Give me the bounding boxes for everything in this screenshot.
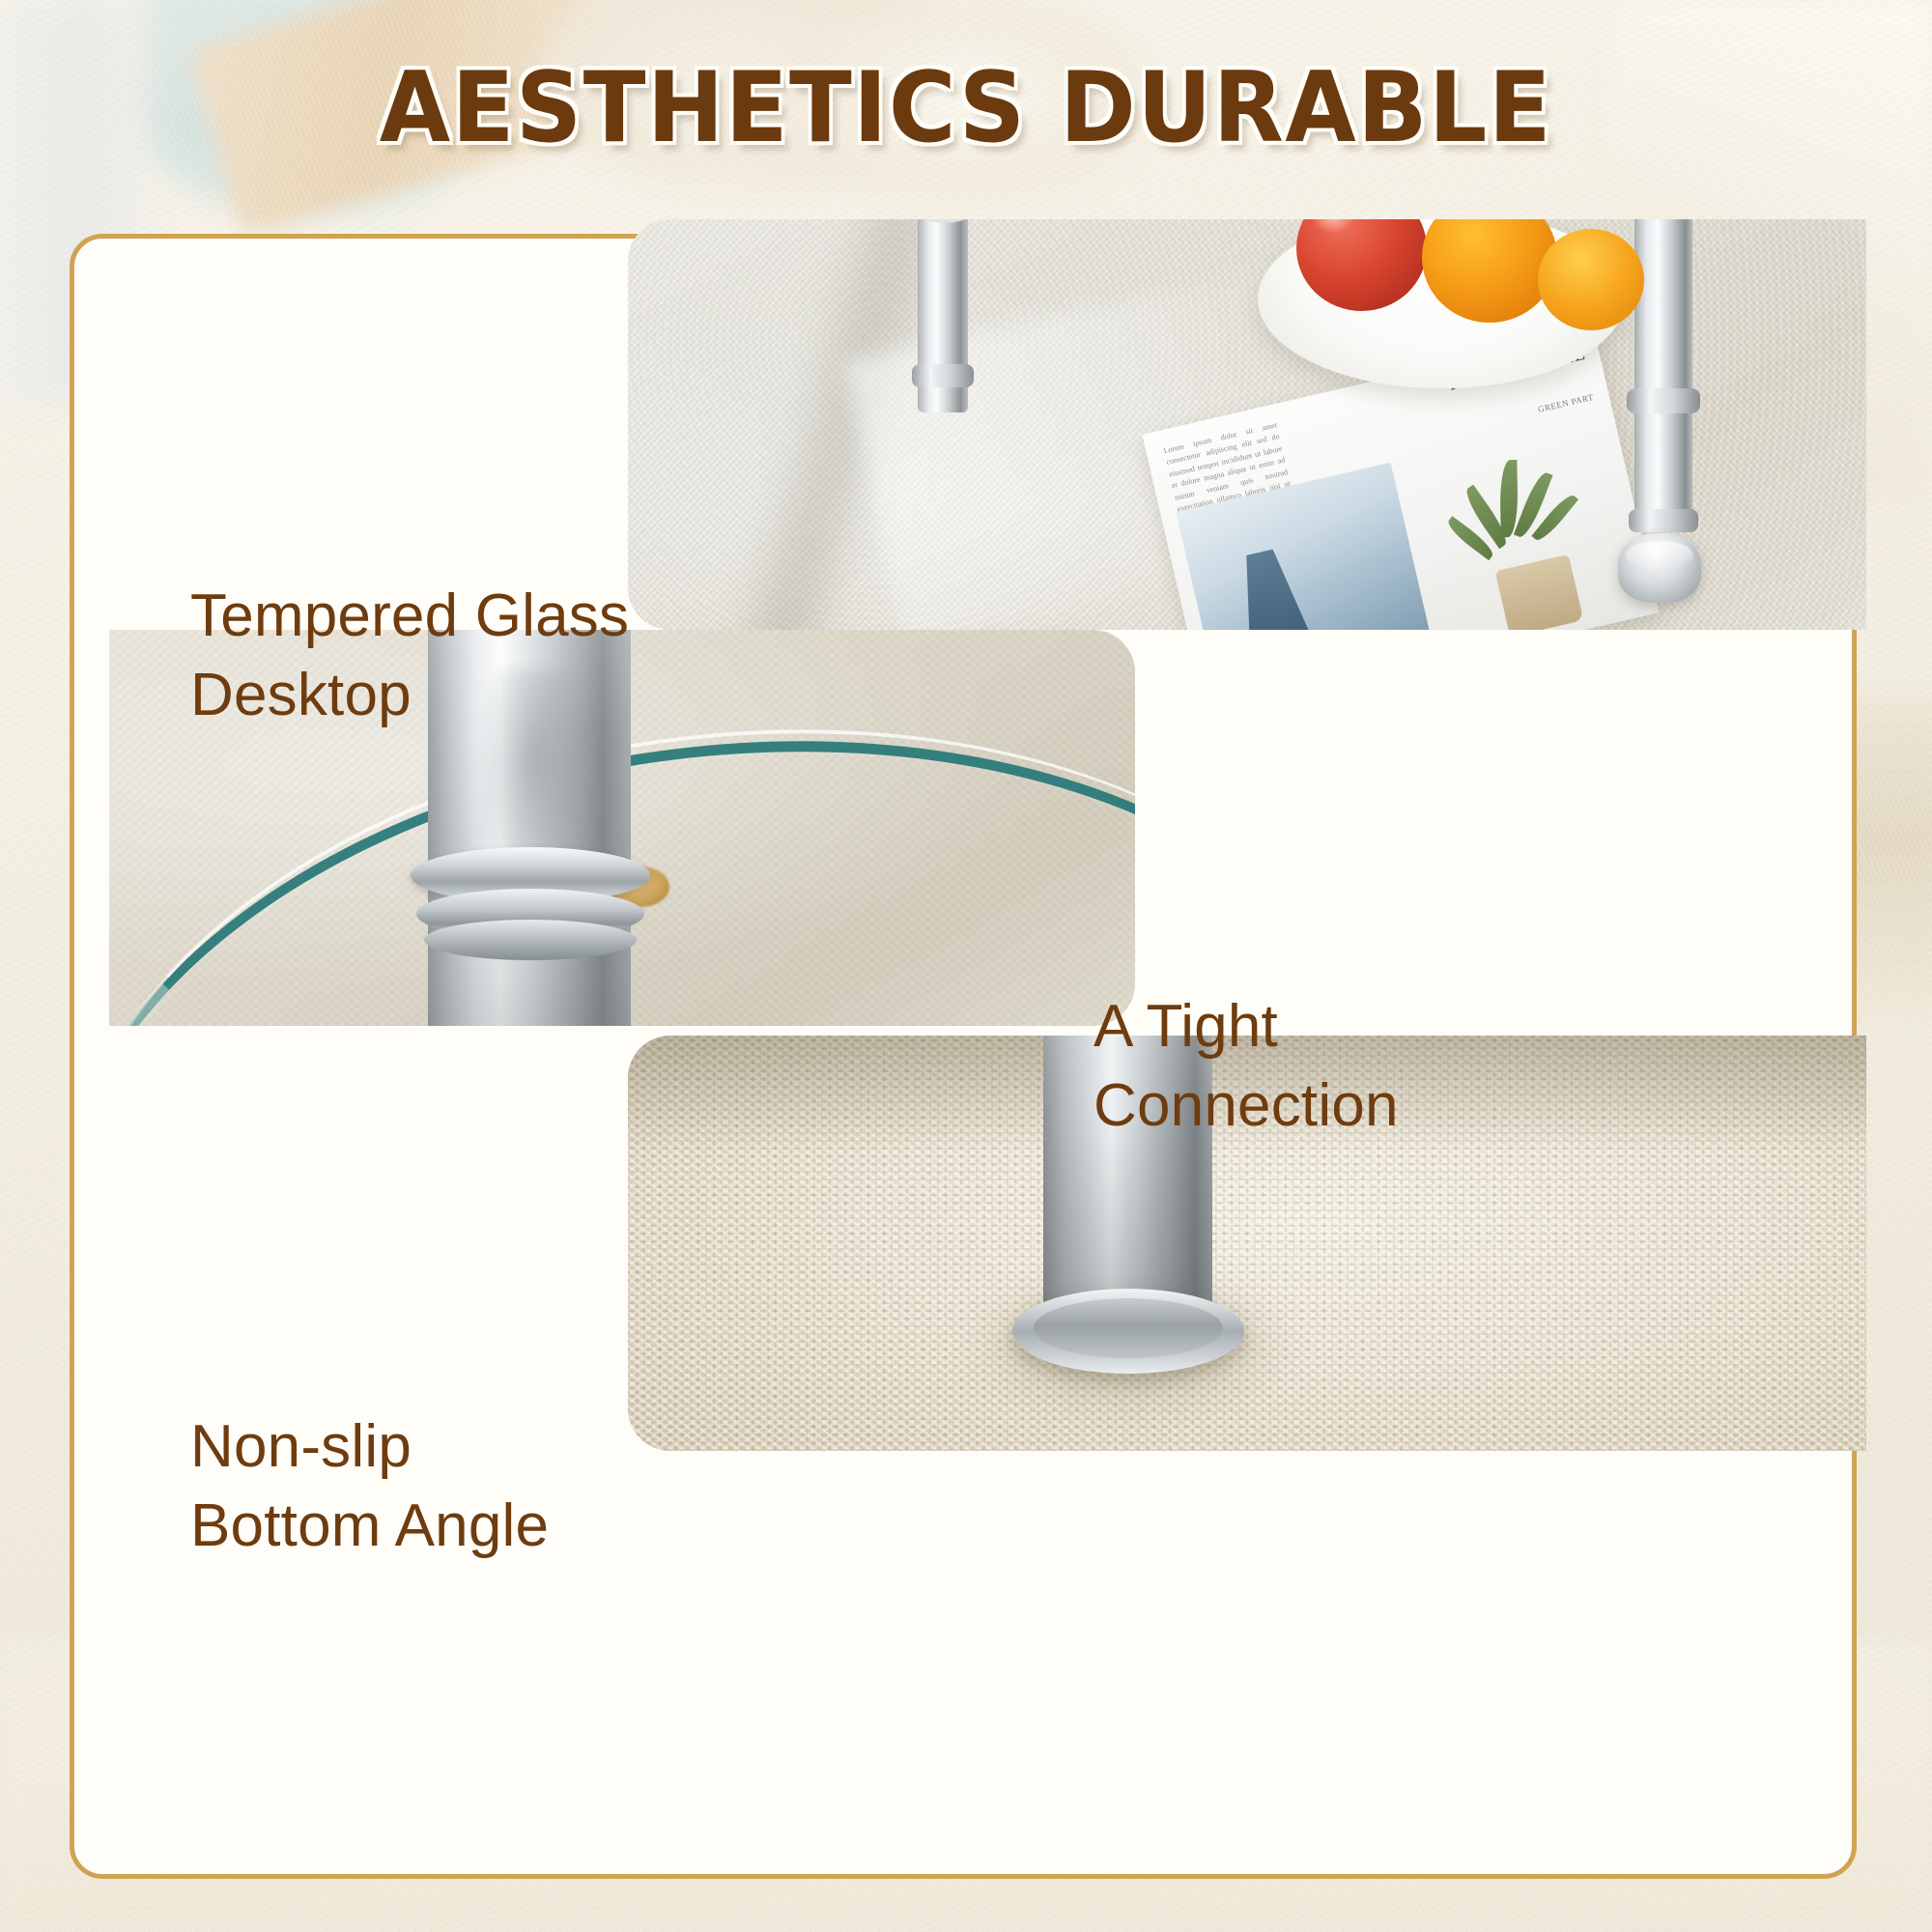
feature-label-non-slip-bottom-angle: Non-slip Bottom Angle — [190, 1407, 549, 1567]
photo1-table-leg-right-collar-lower — [1629, 509, 1698, 532]
feature-label-a-tight-connection: A Tight Connection — [1094, 987, 1399, 1147]
feature-card: PURE AND FRE GREEN PART Lorem ipsum dolo… — [70, 234, 1857, 1879]
feature-label-line1: Tempered Glass — [190, 577, 629, 656]
photo1-table-leg-right — [1634, 219, 1692, 528]
feature-label-line2: Connection — [1094, 1066, 1399, 1146]
photo2-collar-ring-lower — [424, 920, 637, 960]
feature-photo-tempered-glass-desktop: PURE AND FRE GREEN PART Lorem ipsum dolo… — [628, 219, 1866, 630]
feature-label-line2: Bottom Angle — [190, 1487, 549, 1566]
feature-label-line2: Desktop — [190, 656, 629, 735]
feature-label-tempered-glass-desktop: Tempered Glass Desktop — [190, 577, 629, 736]
photo1-leaf — [1499, 460, 1518, 537]
feature-label-line1: Non-slip — [190, 1407, 549, 1487]
feature-label-line1: A Tight — [1094, 987, 1399, 1066]
photo3-non-slip-foot-inner — [1034, 1298, 1223, 1358]
photo1-magazine-plant — [1410, 428, 1640, 630]
photo1-table-leg-right-collar-upper — [1627, 388, 1700, 413]
photo1-magazine-kicker: GREEN PART — [1537, 392, 1595, 414]
photo1-table-leg-left-collar — [912, 364, 974, 387]
photo1-orange-second — [1538, 229, 1644, 330]
page-title: AESTHETICS DURABLE — [380, 50, 1552, 164]
headline-container: AESTHETICS DURABLE — [0, 50, 1932, 164]
photo1-chrome-knob — [1618, 533, 1701, 603]
photo1-magazine-vase — [1495, 554, 1584, 630]
